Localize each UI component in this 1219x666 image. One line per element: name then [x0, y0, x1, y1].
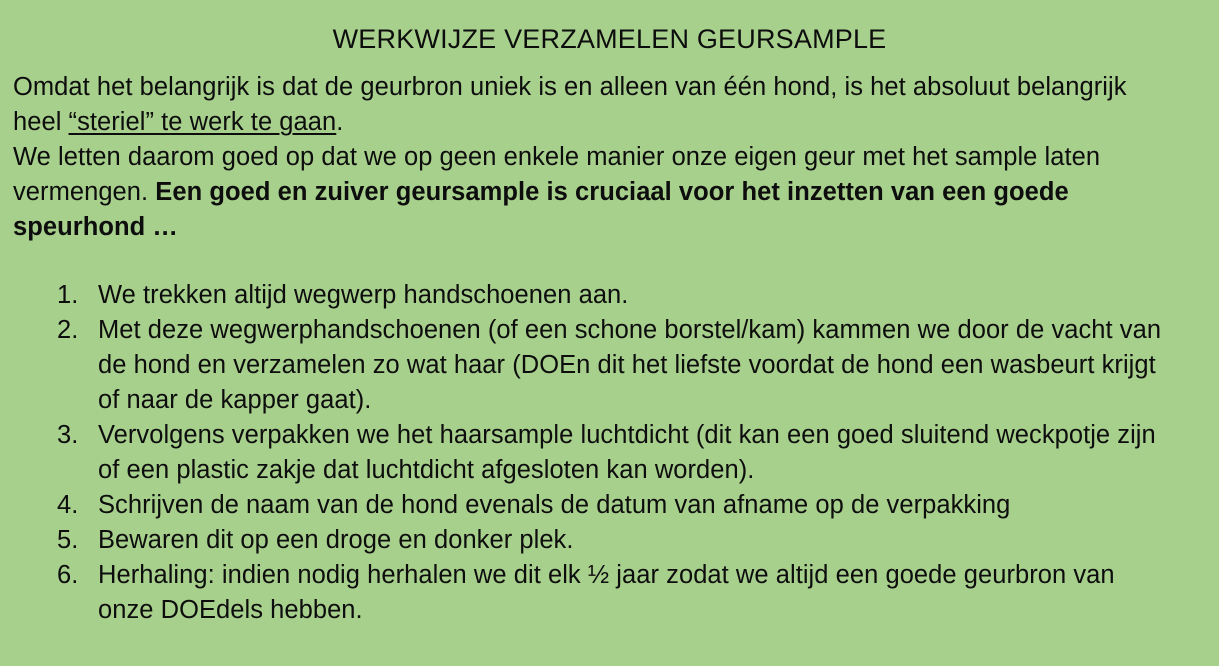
list-item-text: Bewaren dit op een droge en donker plek.	[98, 523, 1169, 558]
list-item-number: 1.	[57, 278, 91, 313]
list-item-text: We trekken altijd wegwerp handschoenen a…	[98, 278, 1169, 313]
intro-paragraph-2-bold-phrase: Een goed en zuiver geursample is cruciaa…	[13, 178, 1069, 241]
list-item-text: Schrijven de naam van de hond evenals de…	[98, 488, 1169, 523]
document-page: WERKWIJZE VERZAMELEN GEURSAMPLE Omdat he…	[0, 0, 1219, 666]
list-item: 2. Met deze wegwerphandschoenen (of een …	[0, 313, 1219, 418]
list-item: 5. Bewaren dit op een droge en donker pl…	[0, 523, 1219, 558]
list-item-number: 3.	[57, 418, 91, 453]
list-item: 4. Schrijven de naam van de hond evenals…	[0, 488, 1219, 523]
list-item-text: Met deze wegwerphandschoenen (of een sch…	[98, 313, 1169, 418]
list-item: 6. Herhaling: indien nodig herhalen we d…	[0, 558, 1219, 628]
list-item-number: 6.	[57, 558, 91, 593]
list-item-text: Vervolgens verpakken we het haarsample l…	[98, 418, 1169, 488]
list-item-text: Herhaling: indien nodig herhalen we dit …	[98, 558, 1169, 628]
page-title: WERKWIJZE VERZAMELEN GEURSAMPLE	[0, 22, 1219, 56]
procedure-step-list: 1. We trekken altijd wegwerp handschoene…	[0, 278, 1219, 628]
list-item-number: 2.	[57, 313, 91, 348]
list-item: 1. We trekken altijd wegwerp handschoene…	[0, 278, 1219, 313]
intro-section: Omdat het belangrijk is dat de geurbron …	[13, 70, 1171, 245]
list-item-number: 5.	[57, 523, 91, 558]
list-item-number: 4.	[57, 488, 91, 523]
intro-paragraph-2: We letten daarom goed op dat we op geen …	[13, 140, 1171, 245]
intro-paragraph-1-underlined-phrase: “steriel” te werk te gaan	[69, 108, 337, 136]
intro-paragraph-1-tail: .	[336, 108, 343, 136]
list-item: 3. Vervolgens verpakken we het haarsampl…	[0, 418, 1219, 488]
intro-paragraph-1: Omdat het belangrijk is dat de geurbron …	[13, 70, 1171, 140]
